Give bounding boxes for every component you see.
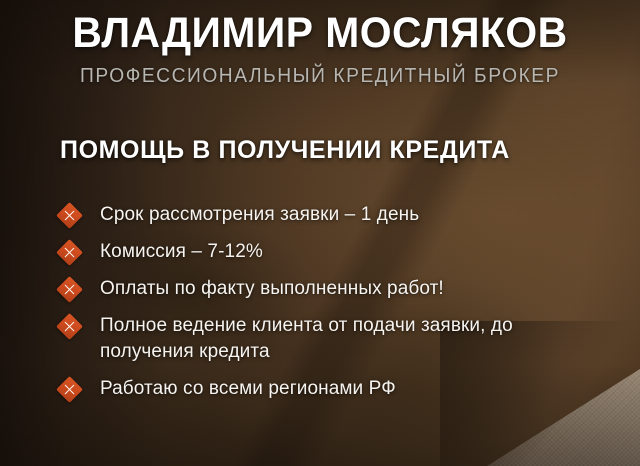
broker-name-title: ВЛАДИМИР МОСЛЯКОВ xyxy=(16,9,624,57)
plus-diamond-icon xyxy=(56,239,83,266)
benefit-text: Полное ведение клиента от подачи заявки,… xyxy=(100,313,590,365)
benefits-list: Срок рассмотрения заявки – 1 день Комисс… xyxy=(60,202,590,402)
plus-diamond-icon xyxy=(56,313,83,340)
plus-diamond-icon xyxy=(56,276,83,303)
benefit-text: Срок рассмотрения заявки – 1 день xyxy=(100,202,419,228)
benefit-text: Оплаты по факту выполненных работ! xyxy=(100,276,444,302)
list-item: Работаю со всеми регионами РФ xyxy=(60,376,590,402)
section-heading: ПОМОЩЬ В ПОЛУЧЕНИИ КРЕДИТА xyxy=(60,134,510,166)
plus-diamond-icon xyxy=(56,202,83,229)
list-item: Комиссия – 7-12% xyxy=(60,239,590,265)
banner-content: ВЛАДИМИР МОСЛЯКОВ ПРОФЕССИОНАЛЬНЫЙ КРЕДИ… xyxy=(0,0,640,466)
broker-tagline: ПРОФЕССИОНАЛЬНЫЙ КРЕДИТНЫЙ БРОКЕР xyxy=(13,63,627,89)
list-item: Оплаты по факту выполненных работ! xyxy=(60,276,590,302)
benefit-text: Комиссия – 7-12% xyxy=(100,239,263,265)
list-item: Полное ведение клиента от подачи заявки,… xyxy=(60,313,590,365)
list-item: Срок рассмотрения заявки – 1 день xyxy=(60,202,590,228)
benefit-text: Работаю со всеми регионами РФ xyxy=(100,376,396,402)
promo-banner: ВЛАДИМИР МОСЛЯКОВ ПРОФЕССИОНАЛЬНЫЙ КРЕДИ… xyxy=(0,0,640,466)
plus-diamond-icon xyxy=(56,376,83,403)
